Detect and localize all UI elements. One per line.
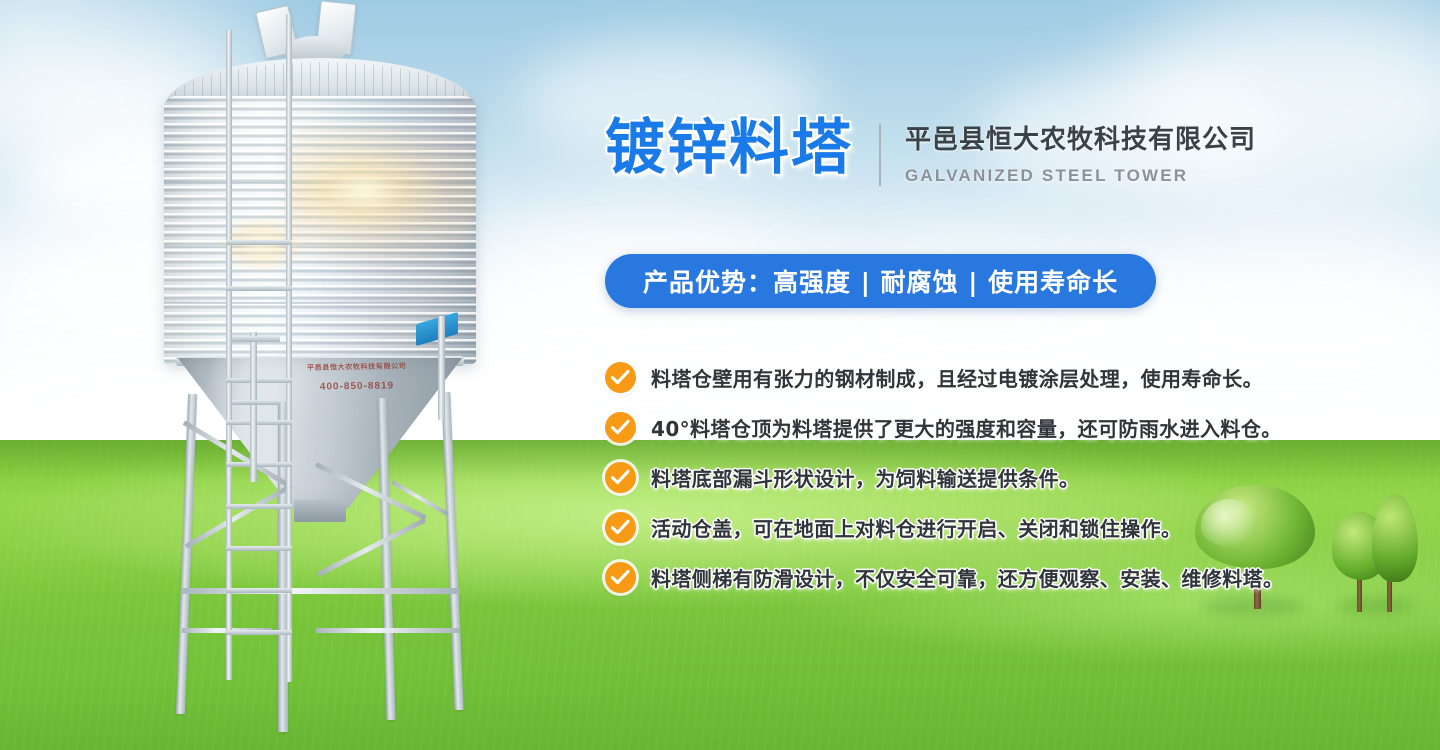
feature-list: 料塔仓壁用有张力的钢材制成，且经过电镀涂层处理，使用寿命长。 40°料塔仓顶为料… — [605, 352, 1395, 602]
feature-text: 料塔仓壁用有张力的钢材制成，且经过电镀涂层处理，使用寿命长。 — [651, 363, 1263, 392]
feature-text: 料塔侧梯有防滑设计，不仅安全可靠，还方便观察、安装、维修料塔。 — [651, 563, 1283, 592]
hero-content: 镀锌料塔 平邑县恒大农牧科技有限公司 GALVANIZED STEEL TOWE… — [0, 0, 1440, 750]
feature-item: 40°料塔仓顶为料塔提供了更大的强度和容量，还可防雨水进入料仓。 — [605, 402, 1395, 452]
company-subtitle: GALVANIZED STEEL TOWER — [905, 166, 1256, 186]
check-icon — [605, 412, 636, 443]
advantage-banner: 产品优势：高强度 | 耐腐蚀 | 使用寿命长 — [605, 254, 1156, 308]
check-icon — [605, 512, 636, 543]
feature-text: 料塔底部漏斗形状设计，为饲料输送提供条件。 — [651, 463, 1079, 492]
feature-item: 料塔仓壁用有张力的钢材制成，且经过电镀涂层处理，使用寿命长。 — [605, 352, 1395, 402]
hero-banner: 平邑县恒大农牧科技有限公司 400-850-8819 — [0, 0, 1440, 750]
check-icon — [605, 462, 636, 493]
advantage-banner-text: 产品优势：高强度 | 耐腐蚀 | 使用寿命长 — [643, 263, 1118, 299]
page-title: 镀锌料塔 — [605, 118, 853, 178]
company-name: 平邑县恒大农牧科技有限公司 — [905, 124, 1256, 157]
feature-item: 料塔底部漏斗形状设计，为饲料输送提供条件。 — [605, 452, 1395, 502]
check-icon — [605, 362, 636, 393]
company-block: 平邑县恒大农牧科技有限公司 GALVANIZED STEEL TOWER — [905, 118, 1256, 186]
feature-item: 活动仓盖，可在地面上对料仓进行开启、关闭和锁住操作。 — [605, 502, 1395, 552]
headline-row: 镀锌料塔 平邑县恒大农牧科技有限公司 GALVANIZED STEEL TOWE… — [605, 118, 1256, 186]
feature-text: 40°料塔仓顶为料塔提供了更大的强度和容量，还可防雨水进入料仓。 — [651, 413, 1282, 442]
feature-item: 料塔侧梯有防滑设计，不仅安全可靠，还方便观察、安装、维修料塔。 — [605, 552, 1395, 602]
feature-text: 活动仓盖，可在地面上对料仓进行开启、关闭和锁住操作。 — [651, 513, 1181, 542]
title-divider — [879, 124, 881, 186]
check-icon — [605, 562, 636, 593]
